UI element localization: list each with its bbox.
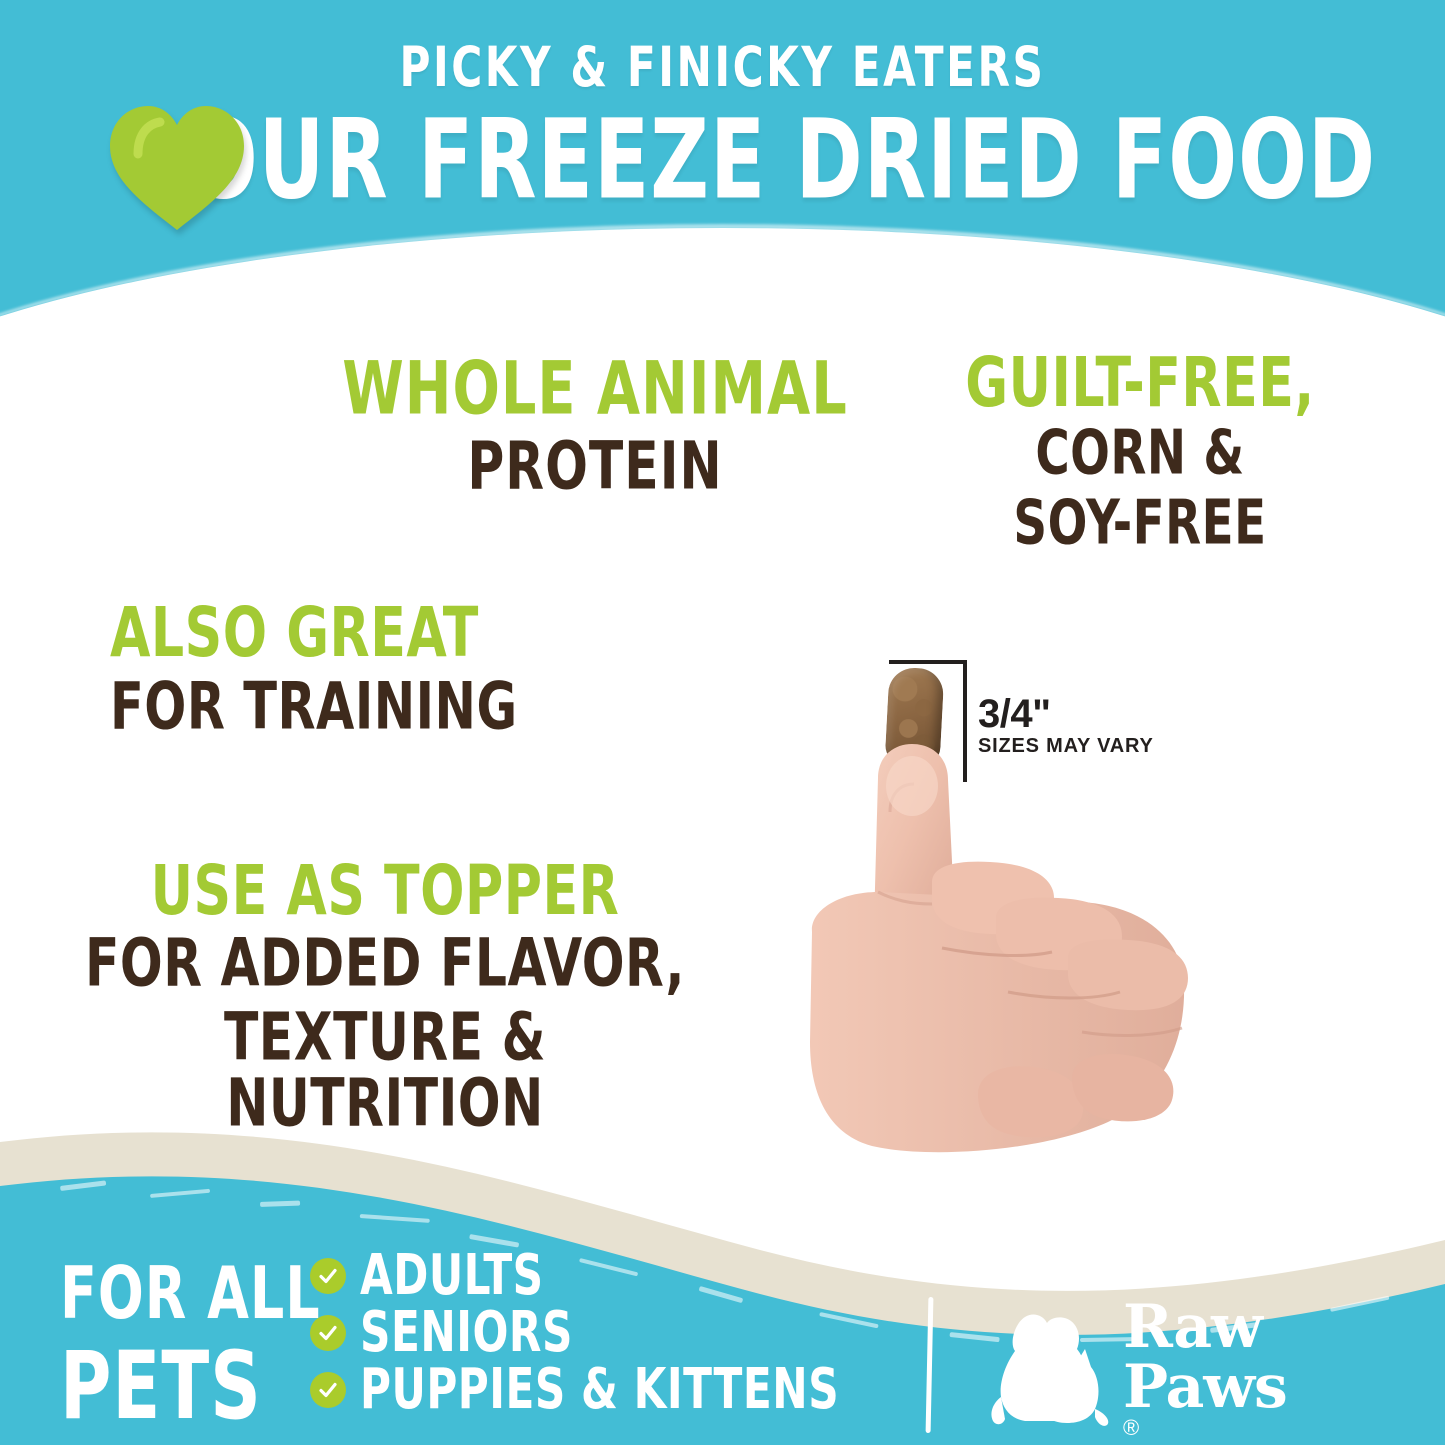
- infographic-canvas: PICKY & FINICKY EATERS OUR FREEZE DRIED …: [0, 0, 1445, 1445]
- feature-subline: PROTEIN: [300, 434, 890, 500]
- for-all-line-1: FOR ALL: [60, 1258, 321, 1330]
- feature-whole-animal-protein: WHOLE ANIMAL PROTEIN: [300, 352, 890, 490]
- size-disclaimer: SIZES MAY VARY: [978, 735, 1154, 758]
- feature-subline: FOR TRAINING: [110, 674, 630, 739]
- checklist-label: ADULTS: [360, 1247, 544, 1303]
- brand-name: Raw Paws: [1123, 1297, 1415, 1417]
- feature-subline: FOR ADDED FLAVOR,: [65, 931, 705, 997]
- checklist-label: SENIORS: [360, 1304, 573, 1360]
- check-icon: [310, 1258, 346, 1294]
- feature-headline: USE AS TOPPER: [65, 856, 705, 924]
- heart-icon: [104, 100, 250, 232]
- feature-use-as-topper: USE AS TOPPER FOR ADDED FLAVOR, TEXTURE …: [65, 856, 705, 1117]
- feature-guilt-free: GUILT-FREE, CORN & SOY-FREE: [925, 348, 1355, 545]
- list-item: PUPPIES & KITTENS: [310, 1366, 839, 1413]
- list-item: SENIORS: [310, 1309, 839, 1356]
- header-arch-divider: [0, 228, 1445, 330]
- pet-type-checklist: ADULTS SENIORS PUPPIES & KITTENS: [310, 1252, 839, 1423]
- check-icon: [310, 1315, 346, 1351]
- for-all-line-2: PETS: [60, 1340, 321, 1434]
- header-eyebrow: PICKY & FINICKY EATERS: [0, 35, 1445, 100]
- registered-mark: ®: [1123, 1417, 1138, 1439]
- feature-headline: GUILT-FREE,: [925, 348, 1355, 416]
- feature-also-great-for-training: ALSO GREAT FOR TRAINING: [110, 598, 630, 729]
- size-measurement: 3/4": [978, 692, 1051, 737]
- feature-subline-2: SOY-FREE: [925, 493, 1355, 554]
- feature-headline: WHOLE ANIMAL: [300, 352, 890, 425]
- logo-wordmark: Raw Paws® PET FOOD: [1123, 1297, 1415, 1445]
- checklist-label: PUPPIES & KITTENS: [360, 1361, 839, 1417]
- measurement-bracket-top: [889, 660, 967, 664]
- feature-headline: ALSO GREAT: [110, 598, 630, 666]
- header-band: PICKY & FINICKY EATERS OUR FREEZE DRIED …: [0, 0, 1445, 330]
- check-icon: [310, 1372, 346, 1408]
- feature-subline: CORN &: [925, 423, 1355, 484]
- dog-cat-silhouette-icon: [985, 1299, 1115, 1429]
- list-item: ADULTS: [310, 1252, 839, 1299]
- measurement-bracket-side: [963, 660, 967, 782]
- brand-logo: Raw Paws® PET FOOD: [985, 1295, 1415, 1435]
- for-all-pets-heading: FOR ALL PETS: [60, 1258, 321, 1418]
